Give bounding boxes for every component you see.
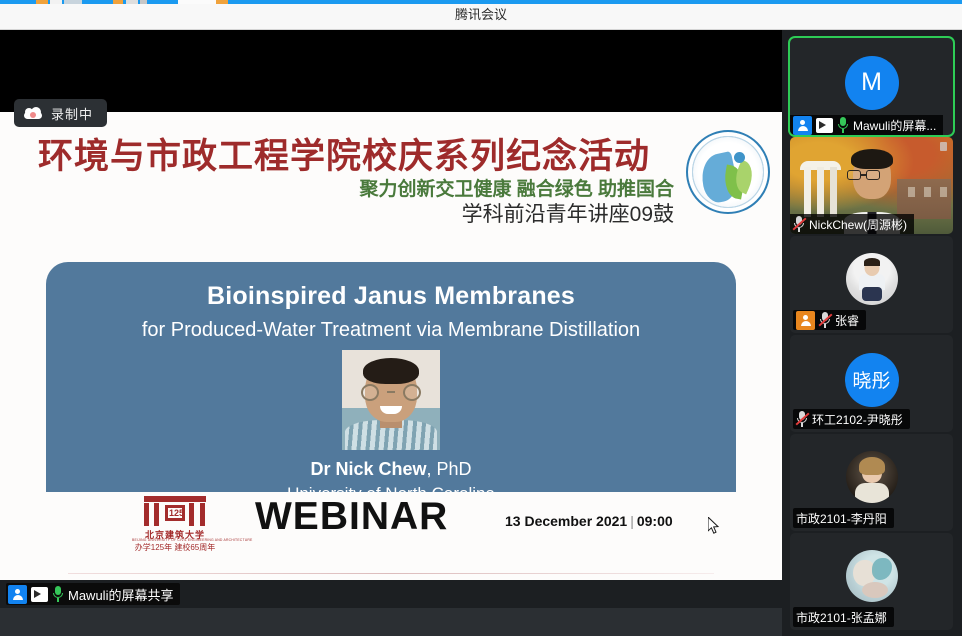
host-badge-icon bbox=[8, 585, 27, 604]
speaker-name: Dr Nick Chew, PhD bbox=[46, 459, 736, 480]
shared-screen-viewport[interactable]: 录制中 环境与市政工程学院校庆系列纪念活动 聚力创新交卫健康 融合绿色 助推国合… bbox=[0, 30, 782, 608]
avatar bbox=[846, 550, 898, 602]
participant-tile[interactable]: 张睿 bbox=[790, 236, 953, 333]
footer-divider bbox=[68, 573, 714, 574]
participant-name: 市政2101-张孟娜 bbox=[796, 609, 887, 626]
chrome-tab-stub[interactable] bbox=[178, 0, 218, 4]
university-logo-gate-number: 125 bbox=[169, 508, 184, 518]
participant-name: NickChew(周源彬) bbox=[809, 216, 907, 233]
participant-tile[interactable]: M Mawuli的屏幕... bbox=[790, 38, 953, 135]
avatar: M bbox=[845, 56, 899, 110]
screen-share-icon bbox=[31, 587, 48, 602]
meeting-window: 腾讯会议 录制中 环境与市政工程学院校庆系列纪念活动 聚力创新交卫健康 融合绿色… bbox=[0, 0, 962, 636]
speaker-portrait bbox=[342, 350, 440, 450]
webinar-datetime: 13 December 2021|09:00 bbox=[505, 513, 673, 529]
slide-header: 环境与市政工程学院校庆系列纪念活动 聚力创新交卫健康 融合绿色 助推国合 学科前… bbox=[0, 112, 782, 226]
shared-screen-taskbar: Mawuli的屏幕共享 bbox=[0, 580, 782, 608]
tile-nameplate: 市政2101-李丹阳 bbox=[793, 508, 894, 528]
avatar bbox=[846, 253, 898, 305]
webinar-separator: | bbox=[627, 513, 637, 529]
tile-nameplate: 张睿 bbox=[793, 310, 866, 330]
webinar-label: WEBINAR bbox=[255, 495, 448, 539]
mouse-cursor-icon bbox=[708, 517, 720, 535]
cloud-icon bbox=[24, 107, 42, 119]
participant-name: Mawuli的屏幕... bbox=[853, 117, 936, 134]
participant-tile[interactable]: 晓彤 环工2102-尹晓彤 bbox=[790, 335, 953, 432]
speaker-name-bold: Dr Nick Chew bbox=[310, 459, 426, 479]
microphone-muted-icon bbox=[819, 312, 831, 328]
talk-title: Bioinspired Janus Membranes bbox=[46, 282, 736, 311]
participant-name: 市政2101-李丹阳 bbox=[796, 510, 887, 527]
avatar: 晓彤 bbox=[845, 353, 899, 407]
tile-nameplate: NickChew(周源彬) bbox=[790, 214, 914, 234]
cohost-badge-icon bbox=[796, 311, 815, 330]
webinar-time: 09:00 bbox=[637, 513, 673, 529]
window-chrome: 腾讯会议 bbox=[0, 0, 962, 30]
recording-label: 录制中 bbox=[51, 104, 93, 123]
participant-sidebar[interactable]: M Mawuli的屏幕... bbox=[782, 30, 962, 636]
microphone-muted-icon bbox=[793, 216, 805, 232]
screen-share-icon bbox=[816, 118, 833, 133]
slide-title-cn: 环境与市政工程学院校庆系列纪念活动 bbox=[38, 128, 650, 179]
chrome-tab-stub[interactable] bbox=[36, 0, 48, 4]
microphone-muted-icon bbox=[796, 411, 808, 427]
recording-badge: 录制中 bbox=[14, 99, 107, 127]
app-title: 腾讯会议 bbox=[0, 5, 962, 25]
participant-name: 环工2102-尹晓彤 bbox=[812, 411, 903, 428]
presentation-slide: 环境与市政工程学院校庆系列纪念活动 聚力创新交卫健康 融合绿色 助推国合 学科前… bbox=[0, 112, 782, 584]
tile-nameplate: 环工2102-尹晓彤 bbox=[793, 409, 910, 429]
chrome-tab-stub[interactable] bbox=[113, 0, 123, 4]
tile-nameplate: 市政2101-张孟娜 bbox=[793, 607, 894, 627]
screen-share-status-label: Mawuli的屏幕共享 bbox=[68, 585, 173, 604]
talk-subtitle: for Produced-Water Treatment via Membran… bbox=[46, 319, 736, 342]
slide-subtitle-dark: 学科前沿青年讲座09鼓 bbox=[462, 198, 674, 228]
avatar bbox=[846, 451, 898, 503]
participant-tile[interactable]: 市政2101-张孟娜 bbox=[790, 533, 953, 630]
microphone-icon bbox=[52, 586, 64, 602]
chrome-tab-stub[interactable] bbox=[50, 0, 62, 4]
slide-footer: 125 北京建筑大学 BEIJING UNIVERSITY OF CIVIL E… bbox=[0, 492, 782, 584]
microphone-icon bbox=[837, 117, 849, 133]
school-emblem-icon bbox=[686, 130, 770, 214]
tile-nameplate: Mawuli的屏幕... bbox=[790, 115, 943, 135]
chrome-tab-stub[interactable] bbox=[216, 0, 228, 4]
screen-share-status-chip[interactable]: Mawuli的屏幕共享 bbox=[6, 583, 180, 605]
participant-tile[interactable]: NickChew(周源彬) bbox=[790, 137, 953, 234]
chrome-tab-stub[interactable] bbox=[126, 0, 138, 4]
participant-tile[interactable]: 市政2101-李丹阳 bbox=[790, 434, 953, 531]
webinar-date: 13 December 2021 bbox=[505, 513, 627, 529]
speaker-name-suffix: , PhD bbox=[427, 459, 472, 479]
slide-subtitle-green: 聚力创新交卫健康 融合绿色 助推国合 bbox=[359, 174, 674, 201]
participant-name: 张睿 bbox=[835, 312, 859, 329]
host-badge-icon bbox=[793, 116, 812, 135]
chrome-tab-stub[interactable] bbox=[64, 0, 82, 4]
university-logo-icon: 125 北京建筑大学 BEIJING UNIVERSITY OF CIVIL E… bbox=[132, 494, 218, 552]
university-logo-anniversary: 办学125年 建校65周年 bbox=[132, 542, 218, 553]
chrome-tab-stub[interactable] bbox=[140, 0, 147, 4]
